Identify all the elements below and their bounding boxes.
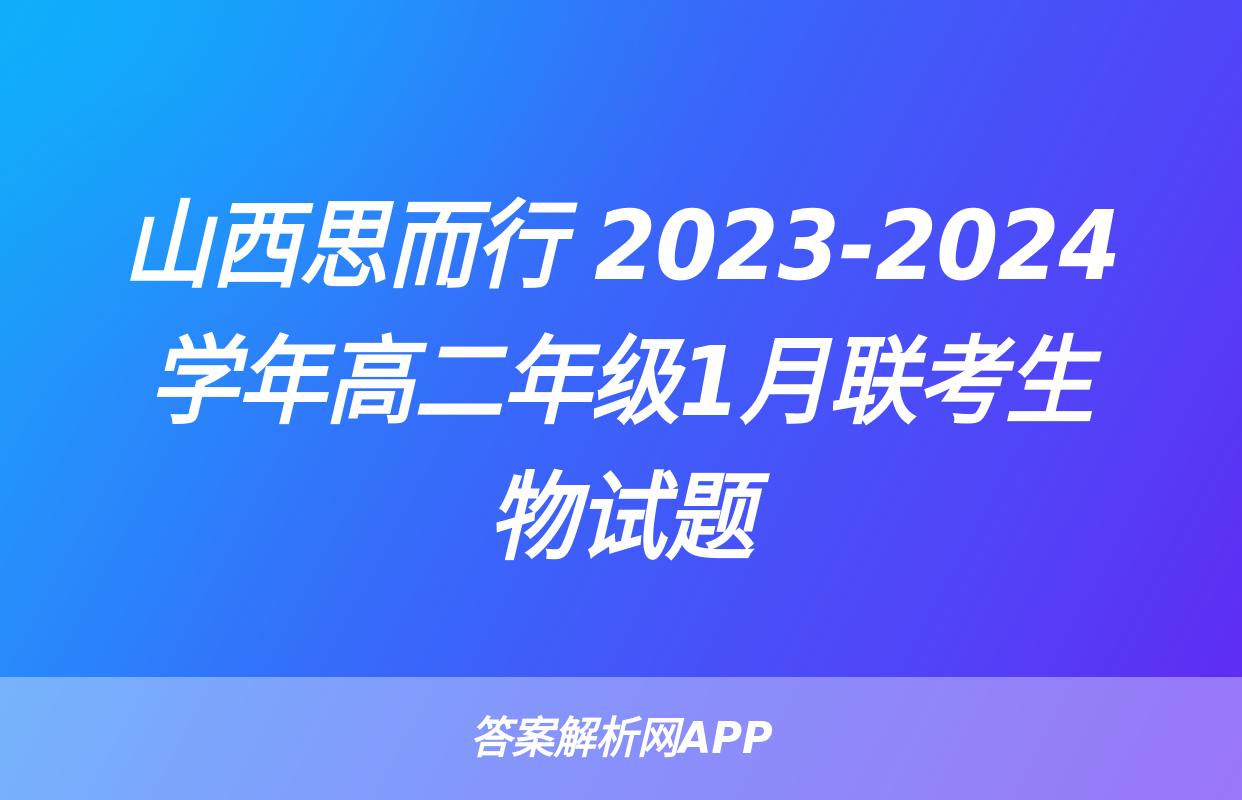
- title-line-3: 物试题: [68, 450, 1175, 586]
- page-title: 山西思而行 2023-2024 学年高二年级1月联考生 物试题: [0, 178, 1242, 586]
- watermark-label: 答案解析网APP: [470, 717, 773, 761]
- watermark-band: 答案解析网APP: [0, 677, 1242, 800]
- exam-title-poster: 山西思而行 2023-2024 学年高二年级1月联考生 物试题 答案解析网APP: [0, 0, 1242, 800]
- title-line-1: 山西思而行 2023-2024: [68, 178, 1175, 314]
- title-line-2: 学年高二年级1月联考生: [68, 314, 1175, 450]
